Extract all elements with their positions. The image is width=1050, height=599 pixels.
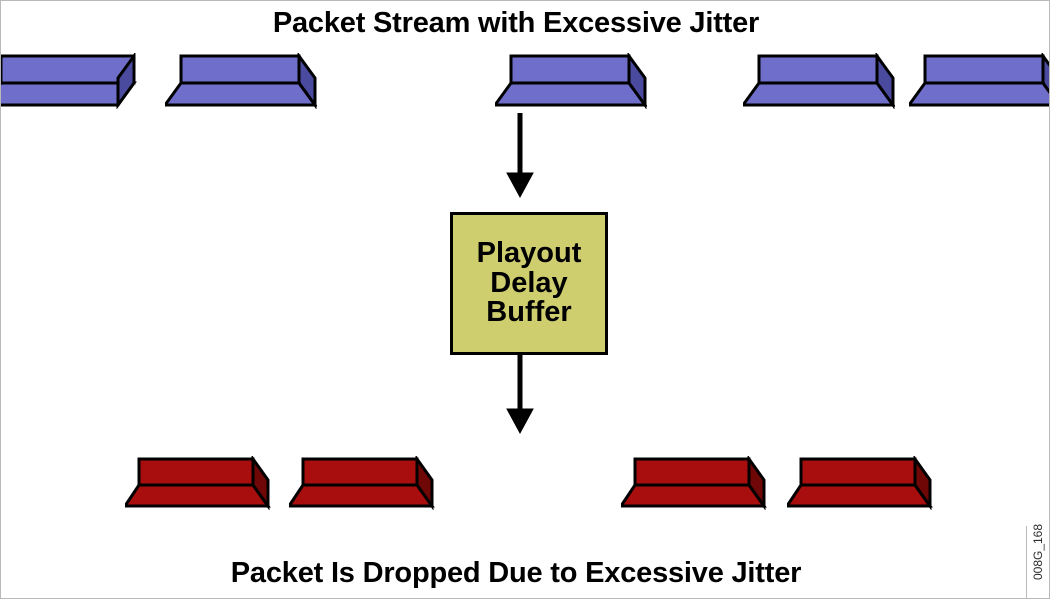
outgoing-packet-2	[289, 456, 435, 510]
arrow-out-of-buffer	[501, 353, 541, 437]
outgoing-packet-3	[621, 456, 767, 510]
arrow-into-buffer	[501, 113, 541, 199]
outgoing-packet-4	[787, 456, 933, 510]
page-title-top: Packet Stream with Excessive Jitter	[1, 7, 1031, 40]
figure-id-divider	[1026, 526, 1027, 598]
buffer-label-line-2: Delay	[490, 269, 567, 299]
incoming-packet-3	[495, 53, 647, 109]
buffer-label-line-3: Buffer	[486, 298, 571, 328]
incoming-packet-1	[0, 53, 137, 109]
buffer-label-line-1: Playout	[477, 239, 582, 269]
page-title-bottom: Packet Is Dropped Due to Excessive Jitte…	[1, 557, 1031, 590]
figure-id: 008G_168	[1028, 512, 1048, 592]
incoming-packet-2	[165, 53, 317, 109]
playout-delay-buffer[interactable]: Playout Delay Buffer	[450, 212, 608, 355]
incoming-packet-5	[909, 53, 1050, 109]
outgoing-packet-1	[125, 456, 271, 510]
incoming-packet-4	[743, 53, 895, 109]
figure-id-text: 008G_168	[1031, 524, 1045, 580]
diagram-canvas: Packet Stream with Excessive Jitter Play…	[0, 0, 1050, 599]
